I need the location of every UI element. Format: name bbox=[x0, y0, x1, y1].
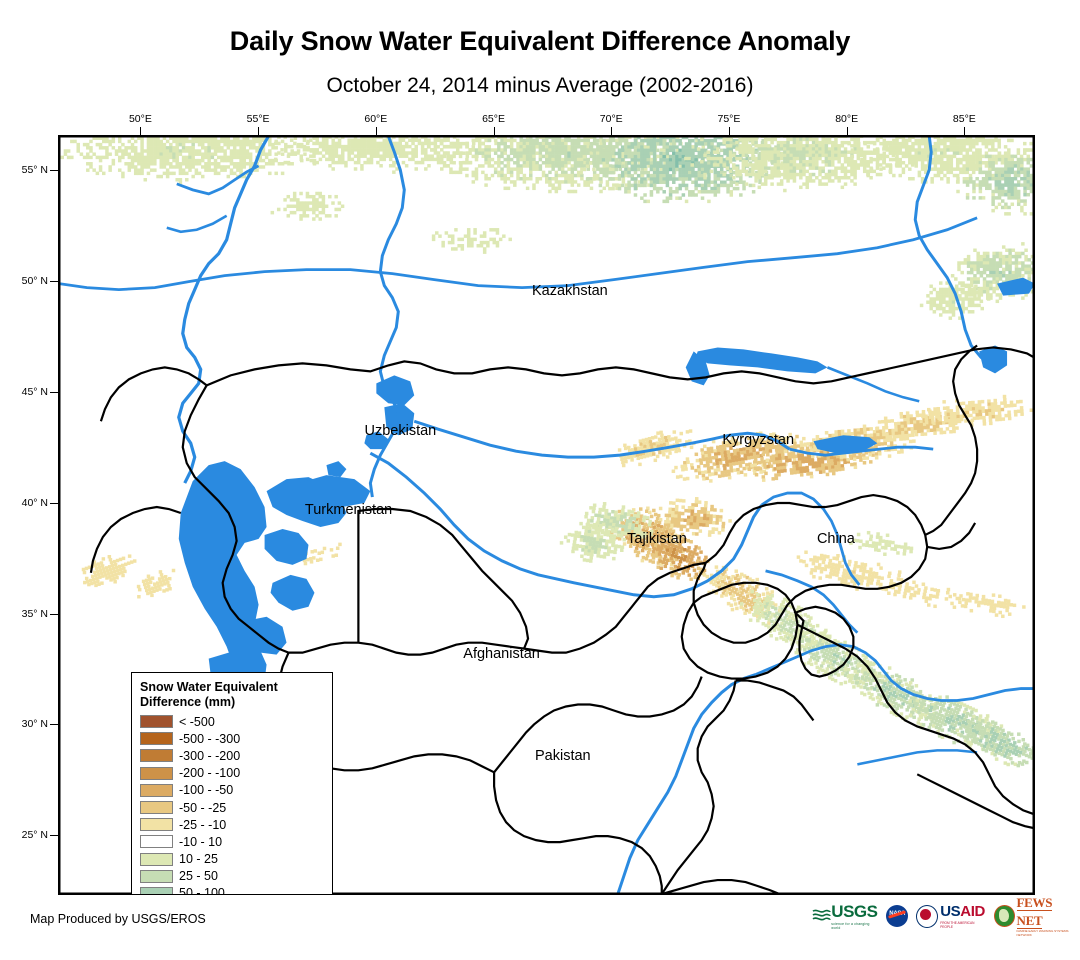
usgs-wordmark: USGS bbox=[831, 902, 877, 921]
legend-label-2: -300 - -200 bbox=[179, 749, 240, 763]
usaid-wordmark: USAID bbox=[940, 903, 985, 920]
lon-tick-label-70: 70°E bbox=[600, 113, 623, 125]
map-credit: Map Produced by USGS/EROS bbox=[30, 912, 206, 926]
lon-tick-mark-60 bbox=[376, 127, 377, 135]
legend-swatch-1 bbox=[140, 732, 173, 745]
legend-row-10[interactable]: 50 - 100 bbox=[140, 885, 332, 895]
country-label-kazakhstan: Kazakhstan bbox=[532, 283, 608, 299]
nasa-meatball-icon: NASA bbox=[886, 905, 908, 927]
legend-title-line1: Snow Water Equivalent bbox=[140, 680, 320, 695]
lat-tick-label-45: 45° N bbox=[6, 386, 48, 398]
lat-tick-label-35: 35° N bbox=[6, 608, 48, 620]
legend-label-9: 25 - 50 bbox=[179, 869, 218, 883]
lat-tick-mark-30 bbox=[50, 724, 58, 725]
lon-tick-label-85: 85°E bbox=[953, 113, 976, 125]
lat-tick-label-50: 50° N bbox=[6, 275, 48, 287]
agency-logos: USGS science for a changing world NASA U… bbox=[812, 903, 1080, 929]
fews-globe-land-icon bbox=[999, 909, 1009, 922]
usaid-wordmark-aid: AID bbox=[960, 903, 985, 920]
usgs-tagline: science for a changing world bbox=[831, 922, 878, 930]
lat-tick-mark-25 bbox=[50, 835, 58, 836]
lat-tick-label-25: 25° N bbox=[6, 829, 48, 841]
legend-row-8[interactable]: 10 - 25 bbox=[140, 851, 332, 868]
legend-swatch-7 bbox=[140, 835, 173, 848]
legend-title-line2: Difference (mm) bbox=[140, 695, 320, 710]
lon-tick-mark-75 bbox=[729, 127, 730, 135]
legend-swatch-5 bbox=[140, 801, 173, 814]
lat-tick-mark-50 bbox=[50, 281, 58, 282]
legend-swatch-9 bbox=[140, 870, 173, 883]
usgs-wave-icon bbox=[812, 908, 831, 924]
lat-tick-mark-35 bbox=[50, 614, 58, 615]
fews-globe-icon bbox=[994, 905, 1015, 927]
legend-row-6[interactable]: -25 - -10 bbox=[140, 816, 332, 833]
legend-label-0: < -500 bbox=[179, 715, 215, 729]
country-label-pakistan: Pakistan bbox=[535, 748, 591, 764]
country-label-uzbekistan: Uzbekistan bbox=[364, 423, 436, 439]
legend-label-1: -500 - -300 bbox=[179, 732, 240, 746]
fews-net-tagline: FAMINE EARLY WARNING SYSTEMS NETWORK bbox=[1017, 930, 1080, 937]
legend-swatch-4 bbox=[140, 784, 173, 797]
lon-tick-label-60: 60°E bbox=[364, 113, 387, 125]
legend-label-6: -25 - -10 bbox=[179, 818, 226, 832]
lat-tick-label-55: 55° N bbox=[6, 164, 48, 176]
country-label-china: China bbox=[817, 531, 855, 547]
lon-tick-mark-80 bbox=[847, 127, 848, 135]
legend-row-7[interactable]: -10 - 10 bbox=[140, 833, 332, 850]
lat-tick-mark-40 bbox=[50, 503, 58, 504]
lat-tick-label-40: 40° N bbox=[6, 497, 48, 509]
map-legend[interactable]: Snow Water Equivalent Difference (mm) < … bbox=[131, 672, 333, 895]
lon-tick-mark-55 bbox=[258, 127, 259, 135]
page-title: Daily Snow Water Equivalent Difference A… bbox=[0, 26, 1080, 57]
legend-title: Snow Water Equivalent Difference (mm) bbox=[140, 680, 320, 710]
lon-tick-label-50: 50°E bbox=[129, 113, 152, 125]
lon-tick-label-55: 55°E bbox=[247, 113, 270, 125]
legend-row-3[interactable]: -200 - -100 bbox=[140, 765, 332, 782]
nasa-logo: NASA bbox=[886, 903, 908, 929]
legend-row-0[interactable]: < -500 bbox=[140, 713, 332, 730]
legend-swatch-8 bbox=[140, 853, 173, 866]
lon-tick-label-80: 80°E bbox=[835, 113, 858, 125]
lon-tick-mark-65 bbox=[494, 127, 495, 135]
legend-swatch-0 bbox=[140, 715, 173, 728]
legend-swatch-6 bbox=[140, 818, 173, 831]
usaid-seal-icon bbox=[916, 905, 938, 928]
page-subtitle: October 24, 2014 minus Average (2002-201… bbox=[0, 74, 1080, 98]
lat-tick-mark-45 bbox=[50, 392, 58, 393]
legend-row-9[interactable]: 25 - 50 bbox=[140, 868, 332, 885]
lon-tick-mark-50 bbox=[140, 127, 141, 135]
legend-label-10: 50 - 100 bbox=[179, 886, 225, 895]
legend-label-3: -200 - -100 bbox=[179, 766, 240, 780]
lon-tick-label-65: 65°E bbox=[482, 113, 505, 125]
lat-tick-label-30: 30° N bbox=[6, 718, 48, 730]
lon-tick-label-75: 75°E bbox=[717, 113, 740, 125]
map-frame[interactable]: KazakhstanUzbekistanTurkmenistanKyrgyzst… bbox=[58, 135, 1035, 895]
country-label-kyrgyzstan: Kyrgyzstan bbox=[722, 432, 794, 448]
legend-row-5[interactable]: -50 - -25 bbox=[140, 799, 332, 816]
usaid-logo: USAID FROM THE AMERICAN PEOPLE bbox=[916, 903, 986, 929]
legend-label-5: -50 - -25 bbox=[179, 801, 226, 815]
legend-row-1[interactable]: -500 - -300 bbox=[140, 730, 332, 747]
fews-net-wordmark: FEWS NET bbox=[1017, 895, 1053, 929]
usaid-tagline: FROM THE AMERICAN PEOPLE bbox=[940, 921, 986, 929]
legend-swatch-2 bbox=[140, 749, 173, 762]
legend-label-7: -10 - 10 bbox=[179, 835, 222, 849]
country-label-tajikistan: Tajikistan bbox=[627, 531, 687, 547]
country-label-afghanistan: Afghanistan bbox=[463, 646, 540, 662]
fews-net-logo: FEWS NET FAMINE EARLY WARNING SYSTEMS NE… bbox=[994, 903, 1080, 929]
legend-row-4[interactable]: -100 - -50 bbox=[140, 782, 332, 799]
legend-swatch-10 bbox=[140, 887, 173, 895]
country-label-turkmenistan: Turkmenistan bbox=[305, 502, 392, 518]
lat-tick-mark-55 bbox=[50, 170, 58, 171]
legend-class-list: < -500-500 - -300-300 - -200-200 - -100-… bbox=[140, 713, 332, 895]
legend-label-4: -100 - -50 bbox=[179, 783, 233, 797]
lon-tick-mark-70 bbox=[611, 127, 612, 135]
legend-row-2[interactable]: -300 - -200 bbox=[140, 747, 332, 764]
usgs-logo: USGS science for a changing world bbox=[812, 903, 878, 929]
legend-label-8: 10 - 25 bbox=[179, 852, 218, 866]
usaid-seal-inner-icon bbox=[920, 909, 931, 920]
lon-tick-mark-85 bbox=[964, 127, 965, 135]
legend-swatch-3 bbox=[140, 767, 173, 780]
